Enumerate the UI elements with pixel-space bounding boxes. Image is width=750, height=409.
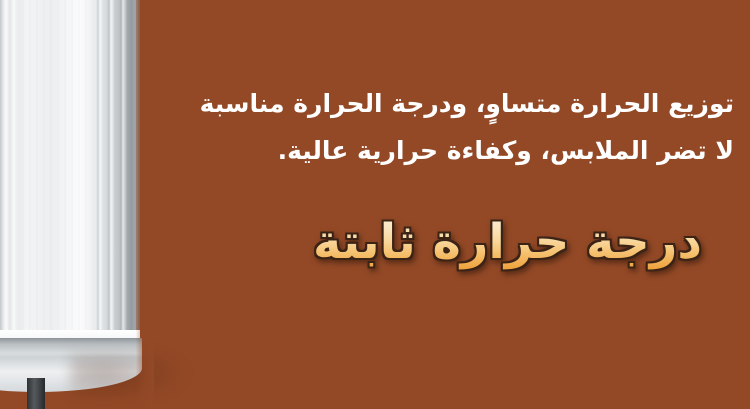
product-cylinder-left-ridges bbox=[0, 0, 26, 358]
product-image bbox=[0, 0, 160, 409]
description-block: توزيع الحرارة متساوٍ، ودرجة الحرارة مناس… bbox=[164, 80, 734, 174]
product-cylinder-right-ridges bbox=[96, 0, 140, 358]
product-support-pole bbox=[27, 378, 45, 409]
headline-block: درجة حرارة ثابتة bbox=[313, 212, 702, 272]
headline-text: درجة حرارة ثابتة bbox=[313, 212, 702, 272]
description-line-1: توزيع الحرارة متساوٍ، ودرجة الحرارة مناس… bbox=[164, 80, 734, 127]
description-line-2: لا تضر الملابس، وكفاءة حرارية عالية. bbox=[164, 127, 734, 174]
product-drop-shadow bbox=[70, 352, 190, 404]
product-feature-banner: توزيع الحرارة متساوٍ، ودرجة الحرارة مناس… bbox=[0, 0, 750, 409]
